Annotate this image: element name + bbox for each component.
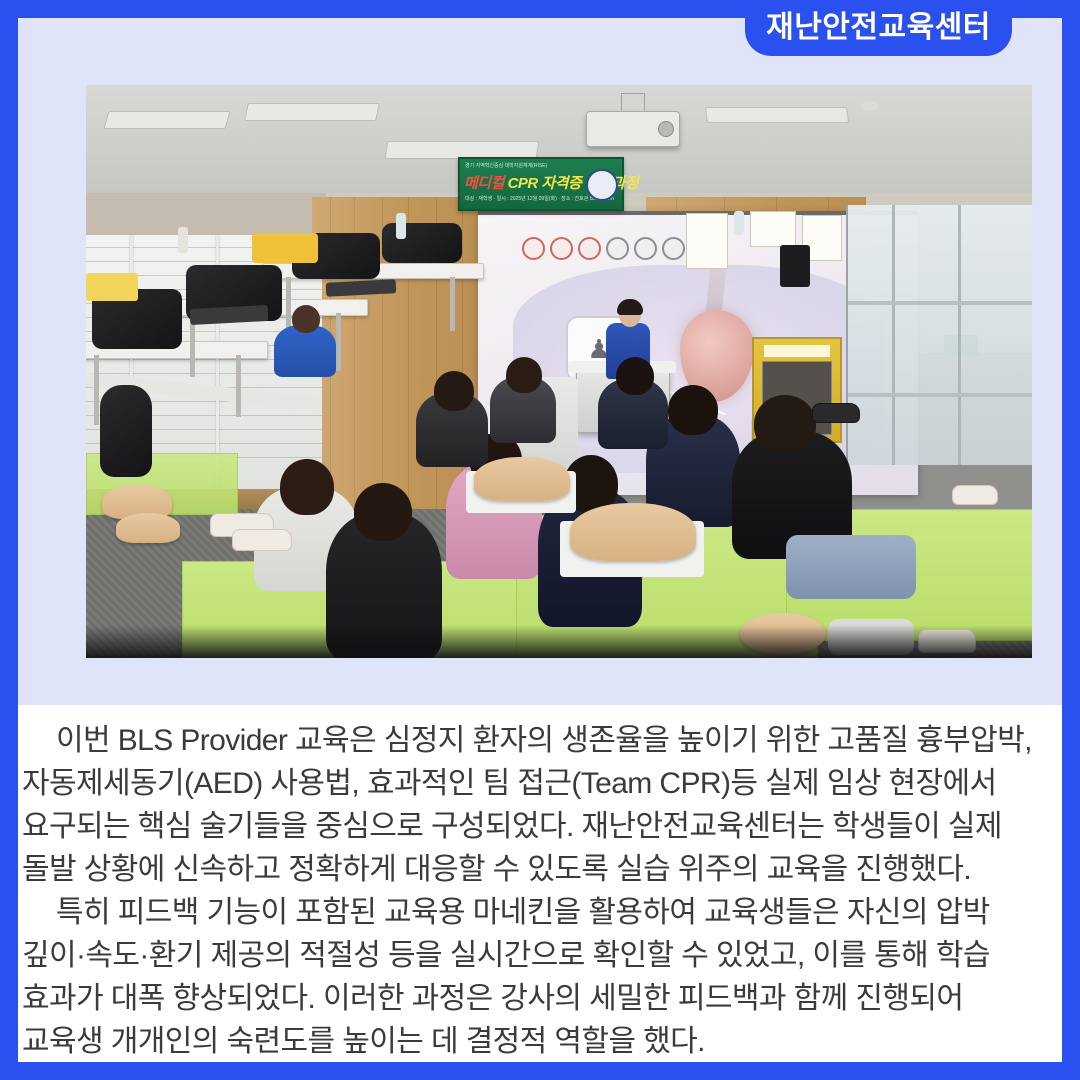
banner-subtitle: 경기 지역혁신중심 대학지원체계(RISE) <box>465 162 547 169</box>
screen-icon-6 <box>662 237 685 260</box>
screen-icon-row <box>522 237 685 260</box>
student-jeans <box>786 535 916 599</box>
desk-1-leg <box>94 355 99 425</box>
equipment-box <box>780 245 810 287</box>
smoke-detector-icon <box>861 101 879 111</box>
water-bottle-2 <box>396 213 406 239</box>
desk-3-leg-2 <box>450 277 455 331</box>
projector-lens-icon <box>658 121 674 137</box>
foreground-shadow <box>86 625 1032 658</box>
screen-icon-1 <box>522 237 545 260</box>
wall-poster-2 <box>750 211 796 247</box>
cpr-manikin-4 <box>116 513 180 543</box>
wall-poster-1 <box>686 213 728 269</box>
cabinet-label <box>764 345 830 357</box>
water-bottle-3 <box>734 211 744 235</box>
ceiling-light-4 <box>705 107 849 123</box>
ceiling-light-1 <box>103 111 230 129</box>
screen-icon-5 <box>634 237 657 260</box>
glass-partition <box>846 205 1032 465</box>
poster-card: ♟ ♘ 경기 지역혁신중심 대학지원체계(RISE) 메디컬 CPR 자격증 취… <box>0 0 1080 1080</box>
backpack <box>100 385 152 477</box>
screen-icon-3 <box>578 237 601 260</box>
university-seal-icon <box>586 169 618 201</box>
black-bag-4 <box>382 223 462 263</box>
shoe-dark-1 <box>812 403 860 423</box>
desk-2-leg-2 <box>336 313 341 371</box>
instructor-hair <box>617 299 643 315</box>
desk-1-leg-2 <box>236 355 241 417</box>
screen-icon-2 <box>550 237 573 260</box>
article-body: 이번 BLS Provider 교육은 심정지 환자의 생존율을 높이기 위한 … <box>18 705 1062 1062</box>
shoe-white-1 <box>952 485 998 505</box>
water-bottle-1 <box>178 227 188 253</box>
card-inner: ♟ ♘ 경기 지역혁신중심 대학지원체계(RISE) 메디컬 CPR 자격증 취… <box>18 18 1062 1062</box>
screen-icon-4 <box>606 237 629 260</box>
wall-banner: 경기 지역혁신중심 대학지원체계(RISE) 메디컬 CPR 자격증 취득과정 … <box>458 157 624 211</box>
snack-bag <box>252 233 318 263</box>
center-name-label: 재난안전교육센터 <box>766 13 991 43</box>
ceiling-light-2 <box>244 103 380 121</box>
training-photo: ♟ ♘ 경기 지역혁신중심 대학지원체계(RISE) 메디컬 CPR 자격증 취… <box>86 85 1032 658</box>
banner-title-highlight: 메디컬 <box>464 175 504 192</box>
paragraph-1: 이번 BLS Provider 교육은 심정지 환자의 생존율을 높이기 위한 … <box>22 719 1046 891</box>
cpr-manikin-1 <box>570 503 696 561</box>
banner-title-main: CPR 자격증 취득과정 <box>508 175 639 192</box>
center-name-badge: 재난안전교육센터 <box>745 0 1012 56</box>
cpr-manikin-2 <box>474 457 570 501</box>
shoe-pair-2 <box>232 529 292 551</box>
paragraph-2: 특히 피드백 기능이 포함된 교육용 마네킨을 활용하여 교육생들은 자신의 압… <box>22 891 1046 1062</box>
yellow-box <box>86 273 138 301</box>
